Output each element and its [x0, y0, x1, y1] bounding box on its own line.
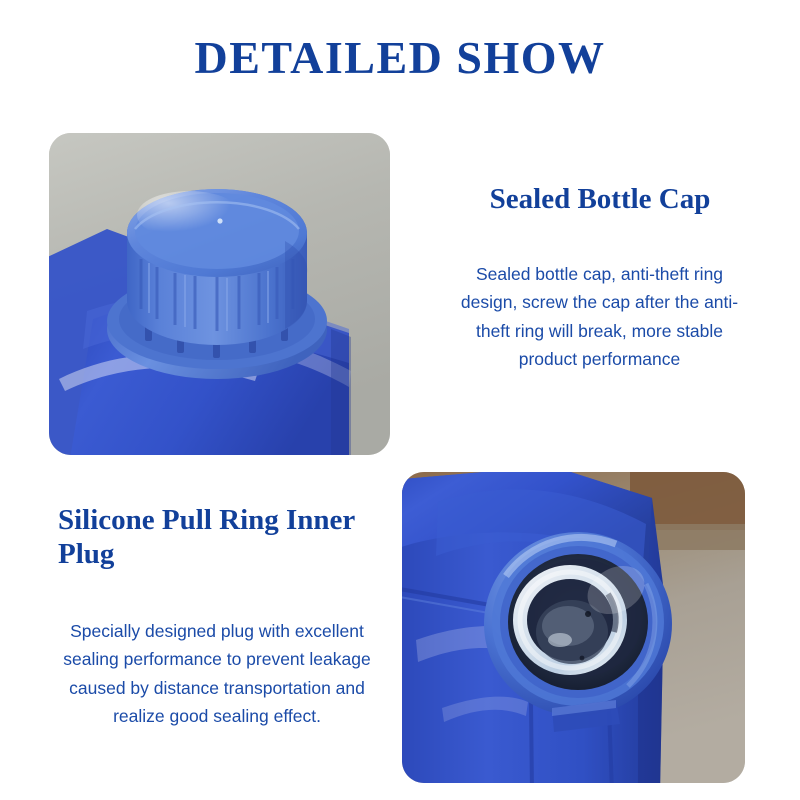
- product-detail-page: DETAILED SHOW: [0, 0, 800, 800]
- section-heading-silicone-plug: Silicone Pull Ring Inner Plug: [58, 503, 398, 571]
- silicone-plug-illustration: [402, 472, 745, 783]
- section-heading-sealed-cap: Sealed Bottle Cap: [420, 182, 780, 216]
- page-title: DETAILED SHOW: [0, 33, 800, 84]
- product-photo-sealed-cap[interactable]: [49, 133, 390, 455]
- section-body-sealed-cap: Sealed bottle cap, anti-theft ring desig…: [447, 260, 752, 373]
- product-photo-silicone-plug[interactable]: [402, 472, 745, 783]
- sealed-cap-illustration: [49, 133, 390, 455]
- section-body-silicone-plug: Specially designed plug with excellent s…: [57, 617, 377, 730]
